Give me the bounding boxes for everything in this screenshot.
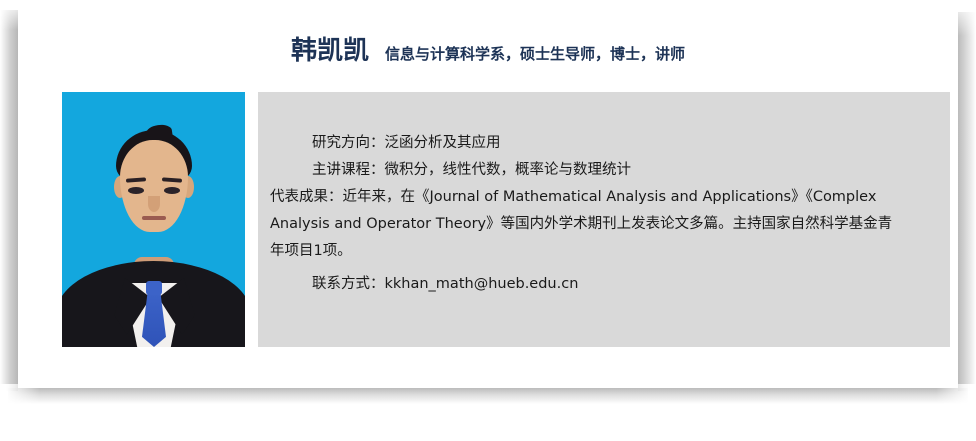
person-name: 韩凯凯 bbox=[291, 38, 369, 64]
person-title: 信息与计算科学系，硕士生导师，博士，讲师 bbox=[385, 47, 685, 62]
profile-info-panel: 研究方向：泛函分析及其应用 主讲课程：微积分，线性代数，概率论与数理统计 代表成… bbox=[258, 92, 950, 347]
necktie-knot-shape bbox=[146, 281, 162, 295]
contact-line: 联系方式：kkhan_math@hueb.edu.cn bbox=[258, 271, 932, 298]
profile-header: 韩凯凯 信息与计算科学系，硕士生导师，博士，讲师 bbox=[16, 38, 960, 78]
nose-shape bbox=[148, 196, 160, 212]
research-direction-line: 研究方向：泛函分析及其应用 bbox=[258, 130, 932, 157]
profile-card: 韩凯凯 信息与计算科学系，硕士生导师，博士，讲师 bbox=[16, 4, 960, 395]
card-shadow-right bbox=[958, 12, 976, 391]
profile-page: 韩凯凯 信息与计算科学系，硕士生导师，博士，讲师 bbox=[0, 0, 976, 441]
portrait-image bbox=[62, 92, 245, 347]
eye-left-shape bbox=[128, 187, 144, 194]
mouth-shape bbox=[142, 216, 166, 220]
profile-photo bbox=[62, 92, 245, 347]
achievements-line: 代表成果：近年来，在《Journal of Mathematical Analy… bbox=[258, 184, 932, 265]
eye-right-shape bbox=[164, 187, 180, 194]
courses-line: 主讲课程：微积分，线性代数，概率论与数理统计 bbox=[258, 157, 932, 184]
